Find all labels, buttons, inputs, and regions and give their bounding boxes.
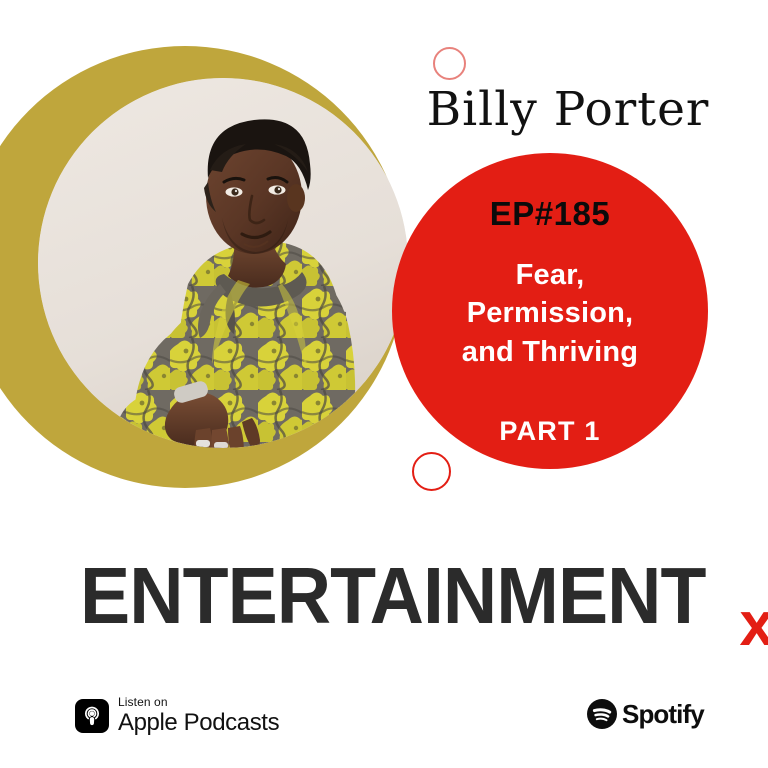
- apple-podcasts-badge[interactable]: Listen on Apple Podcasts: [75, 696, 279, 735]
- apple-podcasts-label-group: Listen on Apple Podcasts: [118, 696, 279, 735]
- brand-wordmark-main: ENTERTAINMENT: [80, 556, 706, 636]
- spotify-icon: [587, 699, 617, 729]
- brand-wordmark: ENTERTAINMENT x: [80, 556, 768, 636]
- salmon-outline-circle: [433, 47, 466, 80]
- apple-podcasts-icon: [75, 699, 109, 733]
- brand-wordmark-accent: x: [739, 594, 768, 656]
- episode-title-line-2: Permission,: [392, 294, 708, 332]
- episode-circle: EP#185 Fear, Permission, and Thriving PA…: [392, 153, 708, 469]
- guest-name: Billy Porter: [398, 84, 738, 136]
- guest-portrait-circle: [38, 78, 408, 448]
- episode-title: Fear, Permission, and Thriving: [392, 256, 708, 371]
- episode-number: EP#185: [392, 195, 708, 233]
- red-outline-circle: [412, 452, 451, 491]
- apple-listen-on-label: Listen on: [118, 696, 279, 708]
- spotify-label: Spotify: [622, 701, 704, 727]
- episode-title-line-3: and Thriving: [392, 333, 708, 371]
- apple-podcasts-label: Apple Podcasts: [118, 711, 279, 735]
- guest-portrait-image: [38, 78, 408, 448]
- spotify-badge[interactable]: Spotify: [587, 699, 704, 729]
- episode-part-label: PART 1: [392, 416, 708, 447]
- podcast-cover-art: Billy Porter EP#185 Fear, Permission, an…: [0, 0, 768, 768]
- episode-title-line-1: Fear,: [392, 256, 708, 294]
